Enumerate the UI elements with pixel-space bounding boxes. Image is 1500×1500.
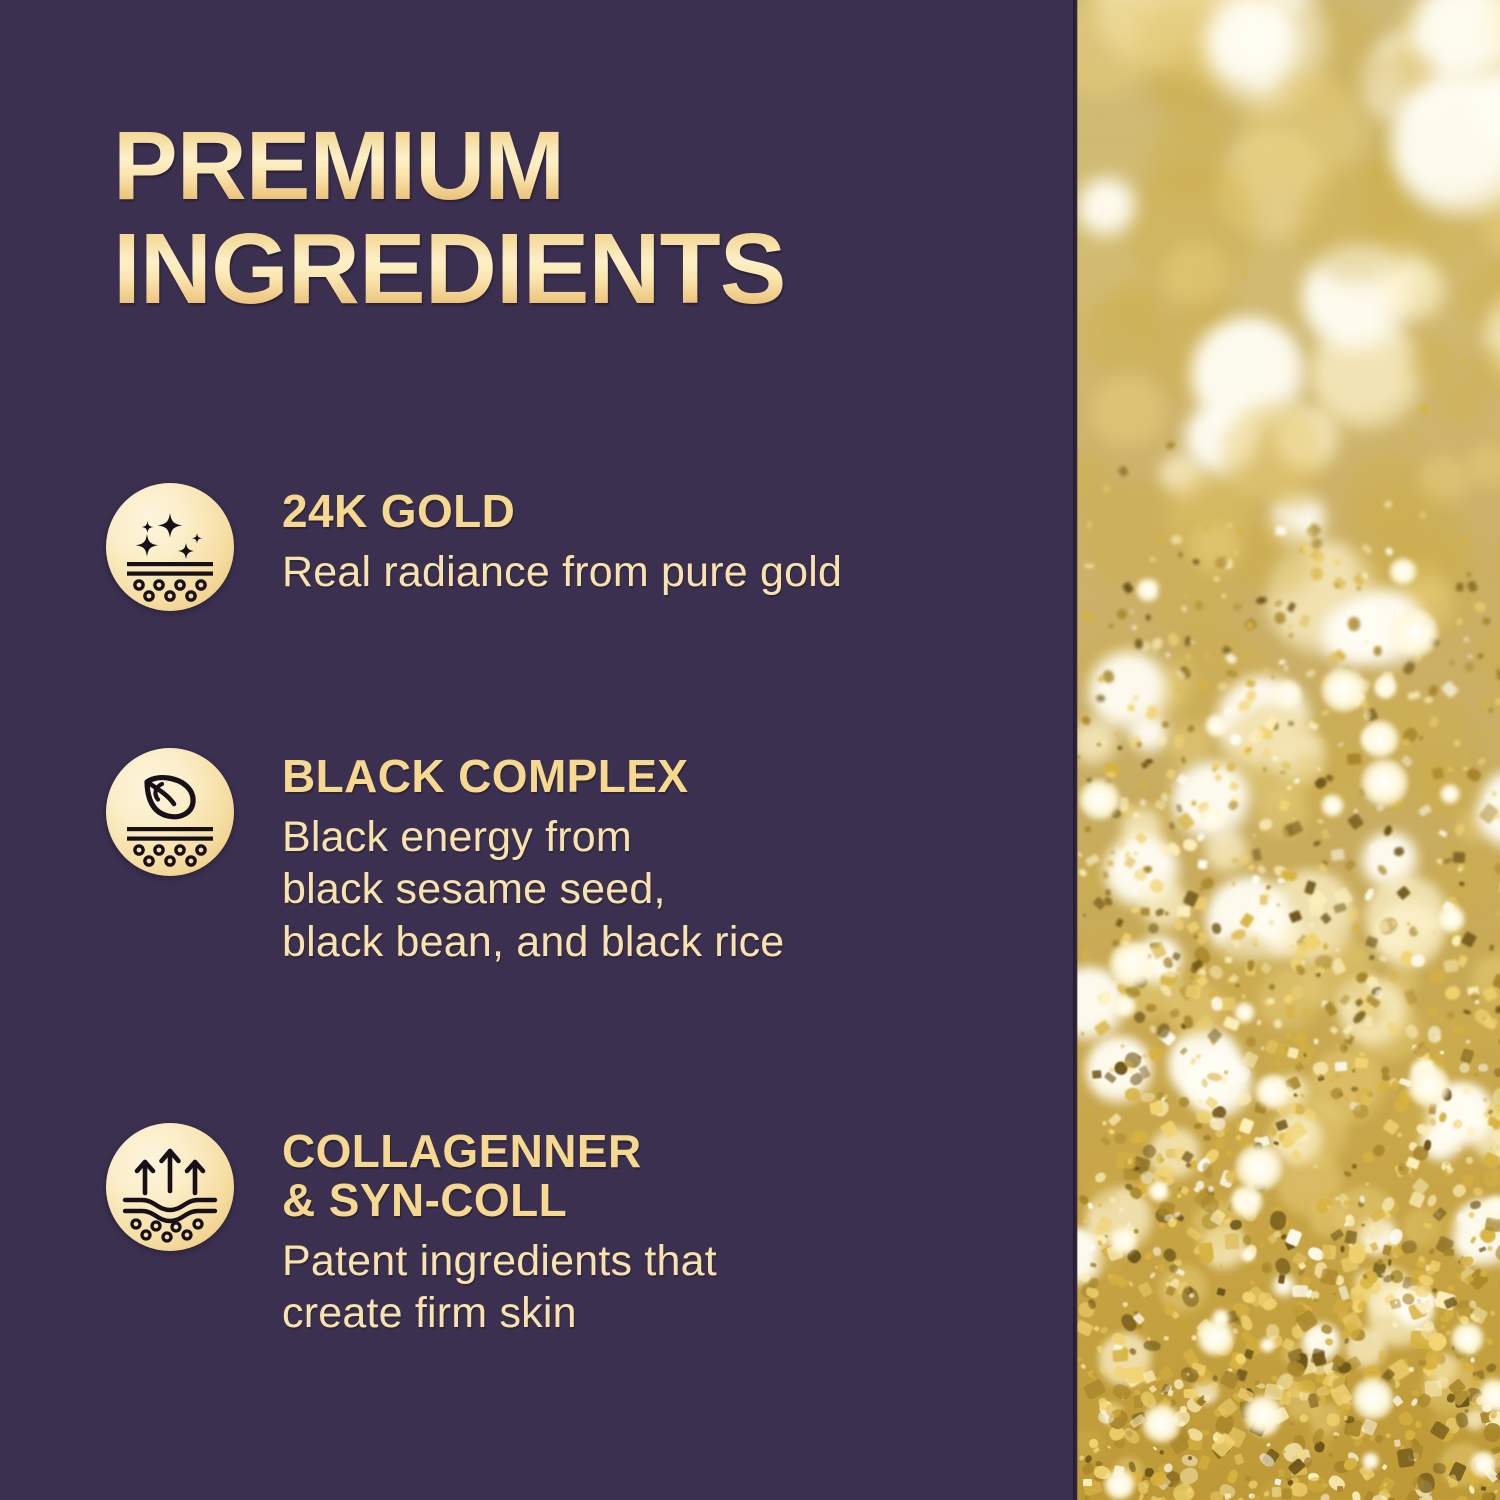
feature-heading: COLLAGENNER & SYN-COLL [282,1127,717,1225]
feature-heading: 24K GOLD [282,487,842,536]
feature-heading: BLACK COMPLEX [282,752,784,801]
title-line-ingredients: INGREDIENTS [113,220,1013,319]
feature-text-block: 24K GOLD Real radiance from pure gold [234,483,842,598]
panel-divider [1073,0,1078,1500]
feature-description: Real radiance from pure gold [282,546,842,598]
feature-item-black-complex: BLACK COMPLEX Black energy from black se… [106,748,784,968]
premium-ingredients-infographic: PREMIUM INGREDIENTS [0,0,1500,1500]
feature-item-collagenner-syn-coll: COLLAGENNER & SYN-COLL Patent ingredient… [106,1123,717,1339]
content-panel: PREMIUM INGREDIENTS [0,0,1077,1500]
page-title: PREMIUM INGREDIENTS [113,118,1013,319]
feature-text-block: COLLAGENNER & SYN-COLL Patent ingredient… [234,1123,717,1339]
glitter-flakes [1077,0,1500,1500]
lifting-arrows-skin-icon [106,1123,234,1251]
sparkle-skin-icon [106,483,234,611]
feature-description: Patent ingredients that create firm skin [282,1235,717,1340]
gold-glitter-image [1077,0,1500,1500]
title-line-premium: PREMIUM [113,118,1013,214]
feature-description: Black energy from black sesame seed, bla… [282,811,784,968]
feature-item-24k-gold: 24K GOLD Real radiance from pure gold [106,483,842,611]
leaf-skin-icon [106,748,234,876]
feature-text-block: BLACK COMPLEX Black energy from black se… [234,748,784,968]
